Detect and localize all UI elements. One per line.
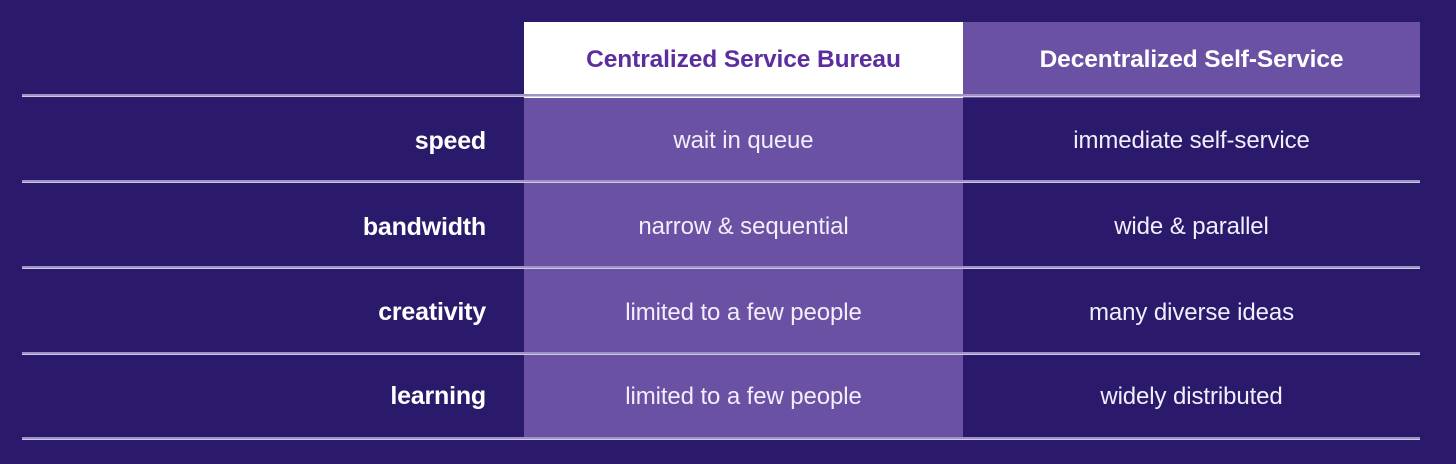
row-divider-3 — [22, 266, 1420, 268]
row-divider-1 — [22, 94, 1420, 96]
cell-creativity-centralized: limited to a few people — [524, 270, 963, 355]
cell-learning-centralized: limited to a few people — [524, 355, 963, 438]
table-corner-cell — [22, 22, 524, 98]
comparison-table: Centralized Service Bureau Decentralized… — [22, 22, 1420, 438]
cell-bandwidth-centralized: narrow & sequential — [524, 184, 963, 270]
cell-creativity-decentralized: many diverse ideas — [963, 270, 1420, 355]
cell-speed-centralized: wait in queue — [524, 98, 963, 184]
row-divider-4 — [22, 352, 1420, 354]
row-label-bandwidth: bandwidth — [22, 184, 524, 270]
row-divider-5 — [22, 437, 1420, 439]
cell-learning-decentralized: widely distributed — [963, 355, 1420, 438]
row-label-speed: speed — [22, 98, 524, 184]
cell-speed-decentralized: immediate self-service — [963, 98, 1420, 184]
comparison-slide: Centralized Service Bureau Decentralized… — [0, 0, 1456, 464]
cell-bandwidth-decentralized: wide & parallel — [963, 184, 1420, 270]
row-label-creativity: creativity — [22, 270, 524, 355]
row-divider-2 — [22, 180, 1420, 182]
row-label-learning: learning — [22, 355, 524, 438]
column-header-centralized: Centralized Service Bureau — [524, 22, 963, 98]
column-header-decentralized: Decentralized Self-Service — [963, 22, 1420, 98]
